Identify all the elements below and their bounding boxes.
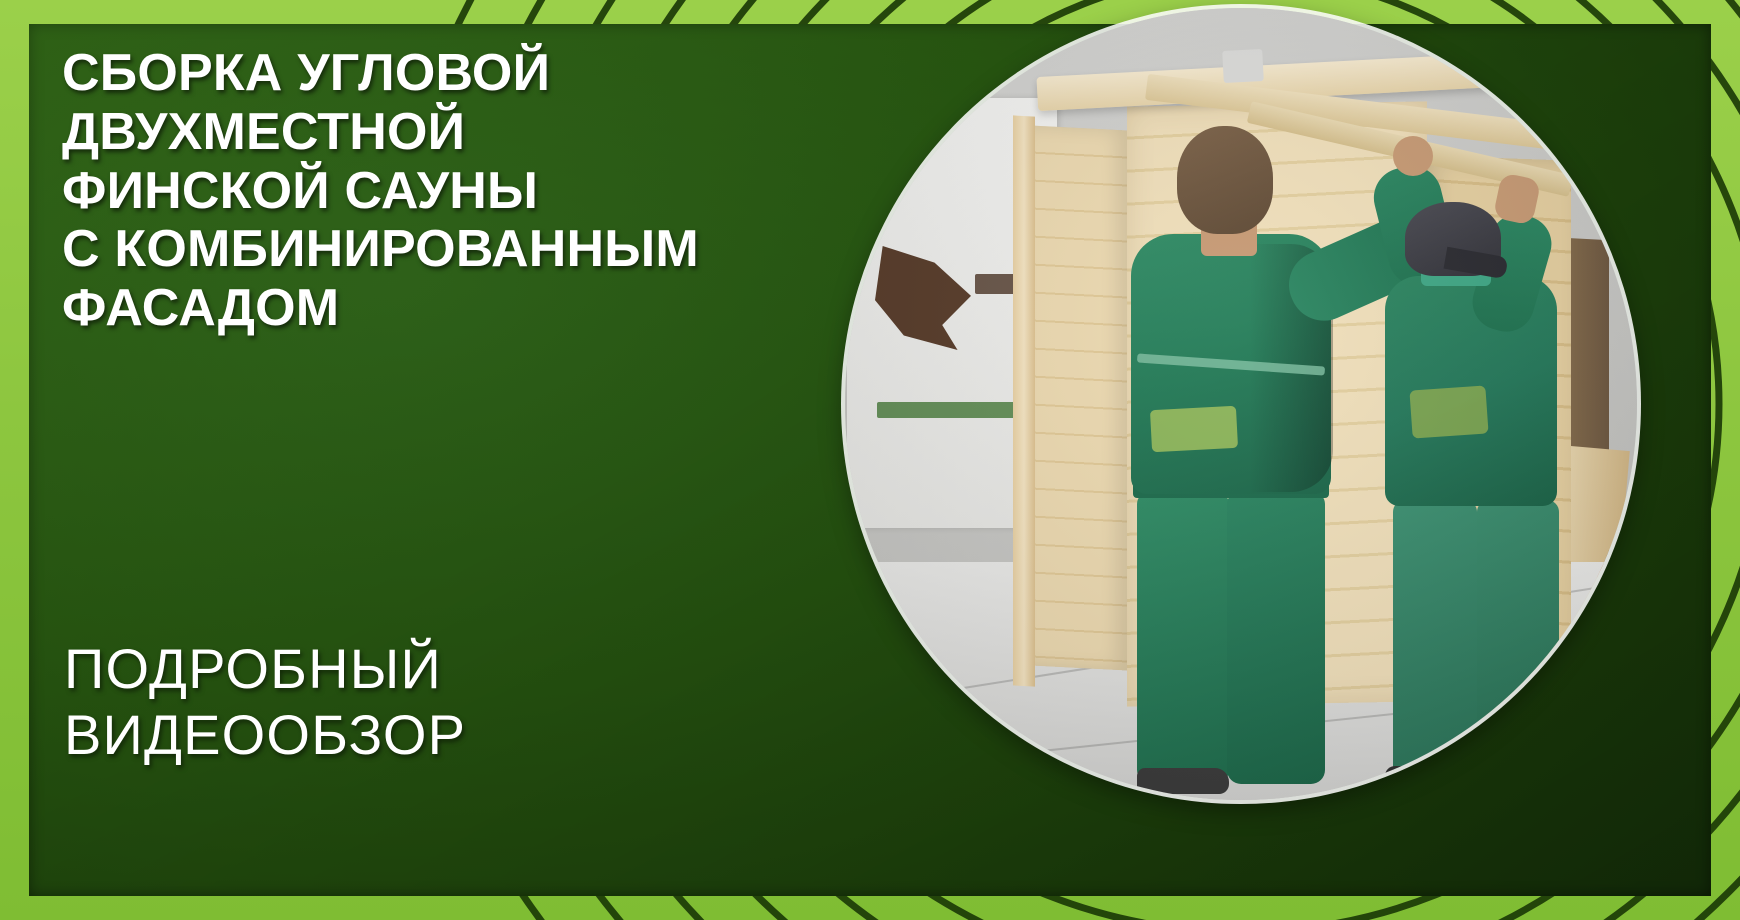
worker-right-logo-patch <box>1409 385 1488 438</box>
page-title: СБОРКА УГЛОВОЙ ДВУХМЕСТНОЙ ФИНСКОЙ САУНЫ… <box>62 44 842 338</box>
photo-scene <box>845 8 1637 800</box>
worker-left-head <box>1177 126 1273 234</box>
worker-left-shoe <box>1137 768 1229 794</box>
thumbnail-canvas: СБОРКА УГЛОВОЙ ДВУХМЕСТНОЙ ФИНСКОЙ САУНЫ… <box>0 0 1740 920</box>
sauna-roof-bracket <box>1222 49 1264 83</box>
worker-left-leg-right <box>1227 492 1325 784</box>
worker-right-shoe-right <box>1473 764 1557 790</box>
headline-line-4: С КОМБИНИРОВАННЫМ <box>62 220 842 279</box>
sauna-left-post <box>1013 115 1035 686</box>
subtitle-line-1: ПОДРОБНЫЙ <box>64 636 764 702</box>
headline-line-5: ФАСАДОМ <box>62 279 842 338</box>
banner-logo-icon <box>875 246 971 350</box>
worker-right-shoe-left <box>1385 766 1471 792</box>
worker-left-hand <box>1393 136 1433 176</box>
worker-right-leg-right <box>1477 500 1559 786</box>
headline-line-2: ДВУХМЕСТНОЙ <box>62 103 842 162</box>
circular-photo <box>845 8 1637 800</box>
subtitle-line-2: ВИДЕООБЗОР <box>64 702 764 768</box>
worker-left-logo-patch <box>1150 406 1238 452</box>
worker-left-leg-left <box>1137 492 1229 784</box>
subtitle: ПОДРОБНЫЙ ВИДЕООБЗОР <box>64 636 764 768</box>
headline-line-3: ФИНСКОЙ САУНЫ <box>62 162 842 221</box>
worker-right-leg-left <box>1393 500 1477 786</box>
headline-line-1: СБОРКА УГЛОВОЙ <box>62 44 842 103</box>
sauna-left-wall <box>1031 125 1127 670</box>
